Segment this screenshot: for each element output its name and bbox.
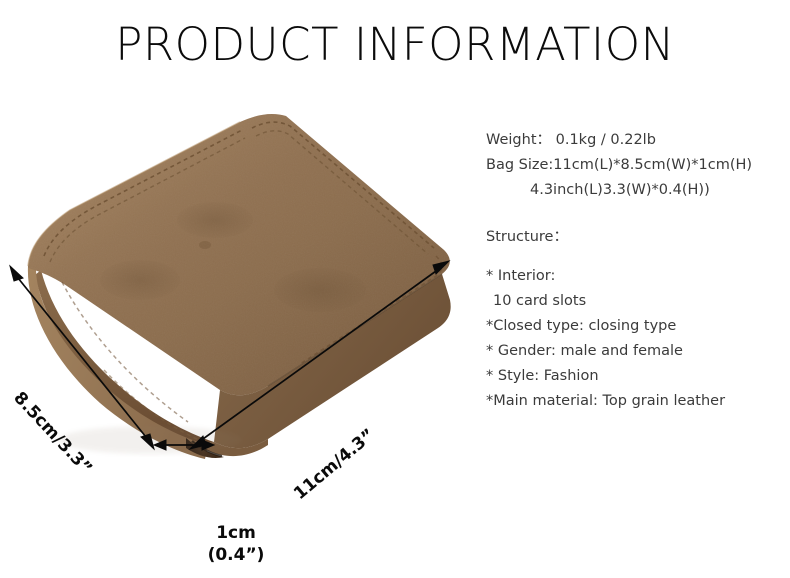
- spec-closed-type: *Closed type: closing type: [486, 314, 786, 339]
- leather-blemish: [199, 241, 211, 249]
- product-information-page: PRODUCT INFORMATION: [0, 0, 790, 578]
- leather-patch: [274, 268, 366, 312]
- spec-structure-heading: Structure：: [486, 225, 786, 250]
- spec-weight: Weight： 0.1kg / 0.22lb: [486, 128, 786, 153]
- leather-patch: [100, 260, 180, 300]
- dimension-label-height-line1: 1cm: [181, 522, 291, 544]
- spec-gender: * Gender: male and female: [486, 339, 786, 364]
- leather-patch: [177, 202, 253, 238]
- spec-style: * Style: Fashion: [486, 364, 786, 389]
- product-figure: 8.5cm/3.3” 11cm/4.3” 1cm (0.4”): [0, 70, 480, 510]
- dimension-label-height: 1cm (0.4”): [181, 522, 291, 566]
- spacer: [486, 250, 786, 264]
- wallet-photo: [0, 70, 480, 470]
- spec-interior: * Interior:: [486, 264, 786, 289]
- spacer: [486, 203, 786, 225]
- spec-bag-size-cm: Bag Size:11cm(L)*8.5cm(W)*1cm(H): [486, 153, 786, 178]
- dimension-label-height-line2: (0.4”): [181, 544, 291, 566]
- wallet-body: [28, 114, 451, 459]
- spec-main-material: *Main material: Top grain leather: [486, 389, 786, 414]
- page-title: PRODUCT INFORMATION: [0, 18, 790, 71]
- spec-bag-size-inch: 4.3inch(L)3.3(W)*0.4(H)): [486, 178, 786, 203]
- spec-card-slots: 10 card slots: [486, 289, 786, 314]
- specification-panel: Weight： 0.1kg / 0.22lb Bag Size:11cm(L)*…: [486, 128, 786, 414]
